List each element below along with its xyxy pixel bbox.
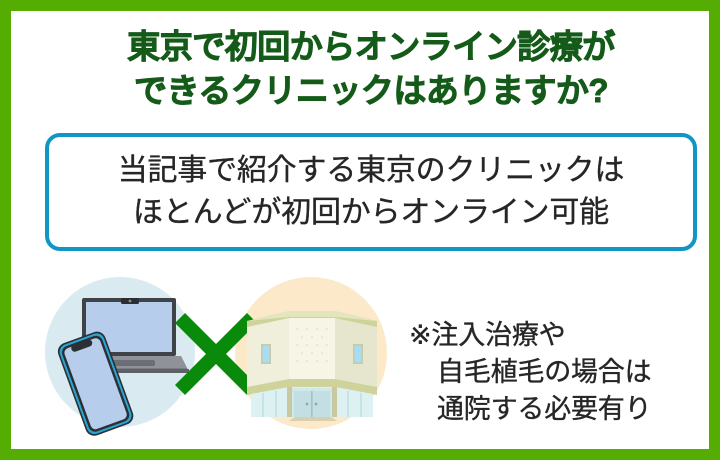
- note-line-3: 通院する必要有り: [409, 391, 709, 428]
- note-line-1: ※注入治療や: [409, 317, 709, 354]
- clinic-building-icon: [245, 299, 379, 421]
- answer-callout-line-1: 当記事で紹介する東京のクリニックは: [118, 150, 625, 192]
- answer-callout-box: 当記事で紹介する東京のクリニックは ほとんどが初回からオンライン可能: [45, 133, 697, 251]
- page-title-line-1: 東京で初回からオンライン診療が: [11, 25, 720, 69]
- supplementary-note: ※注入治療や 自毛植毛の場合は 通院する必要有り: [409, 317, 709, 428]
- illustration-group: [37, 269, 409, 447]
- infographic-frame: 東京で初回からオンライン診療が できるクリニックはありますか? 当記事で紹介する…: [0, 0, 720, 460]
- smartphone-icon: [49, 331, 141, 439]
- page-title-line-2: できるクリニックはありますか?: [11, 69, 720, 113]
- note-line-2: 自毛植毛の場合は: [409, 354, 709, 391]
- page-title: 東京で初回からオンライン診療が できるクリニックはありますか?: [11, 25, 720, 113]
- answer-callout-line-2: ほとんどが初回からオンライン可能: [133, 192, 609, 234]
